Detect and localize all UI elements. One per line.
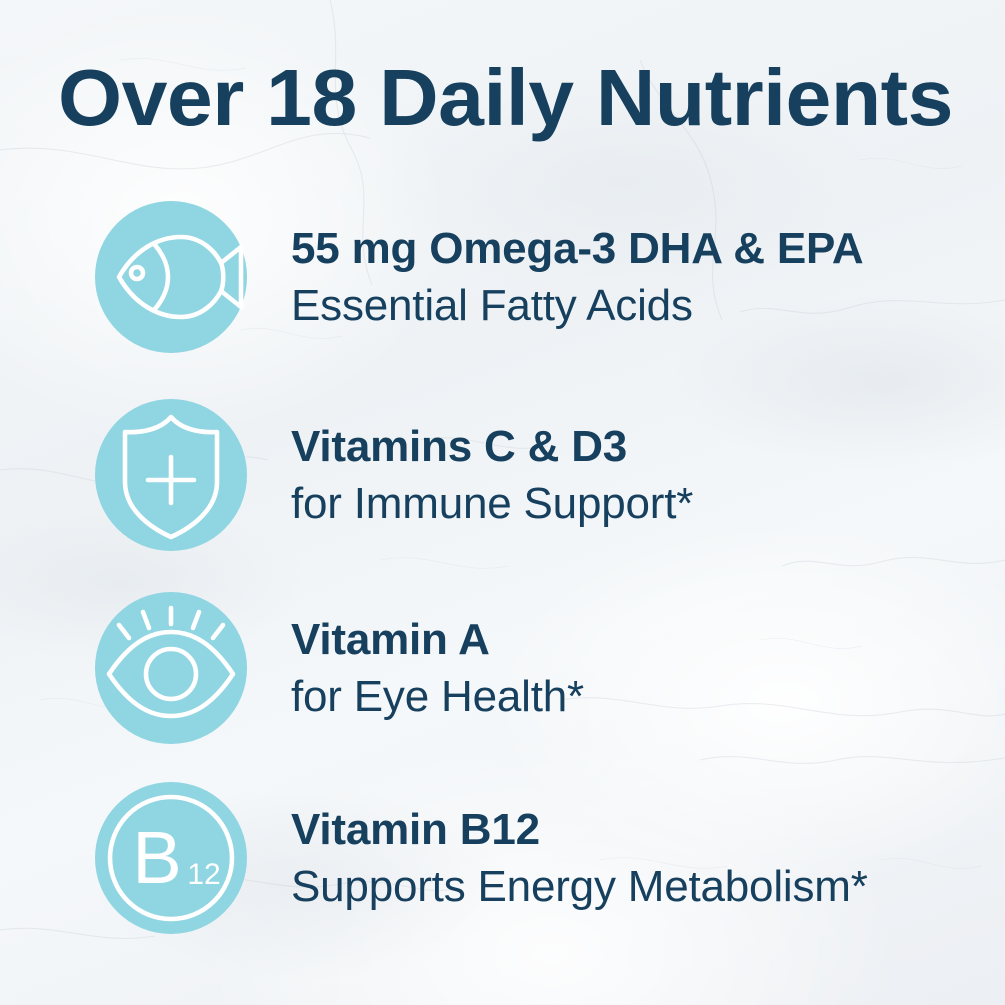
nutrient-list: 55 mg Omega-3 DHA & EPA Essential Fatty … — [0, 0, 1005, 1005]
nutrient-secondary-label: for Immune Support* — [291, 475, 693, 532]
nutrient-secondary-label: Supports Energy Metabolism* — [291, 858, 868, 915]
nutrient-secondary-label: for Eye Health* — [291, 668, 584, 725]
nutrient-row-omega3: 55 mg Omega-3 DHA & EPA Essential Fatty … — [0, 197, 1005, 357]
shield-plus-icon-badge — [95, 399, 247, 551]
b12-letter: B — [132, 816, 181, 899]
nutrient-primary-label: 55 mg Omega-3 DHA & EPA — [291, 220, 863, 277]
nutrient-secondary-label: Essential Fatty Acids — [291, 277, 863, 334]
shield-plus-icon — [95, 399, 247, 551]
b12-circle-icon-badge: B 12 — [95, 782, 247, 934]
nutrient-text-vitamin-a: Vitamin A for Eye Health* — [291, 611, 584, 725]
b12-subscript: 12 — [187, 858, 220, 891]
eye-icon — [95, 592, 247, 744]
nutrient-text-vitamins-c-d3: Vitamins C & D3 for Immune Support* — [291, 418, 693, 532]
nutrient-primary-label: Vitamin B12 — [291, 801, 868, 858]
b12-circle-icon: B 12 — [95, 782, 247, 934]
nutrient-primary-label: Vitamins C & D3 — [291, 418, 693, 475]
nutrient-text-vitamin-b12: Vitamin B12 Supports Energy Metabolism* — [291, 801, 868, 915]
nutrient-infographic: Over 18 Daily Nutrients — [0, 0, 1005, 1005]
fish-icon-badge — [95, 201, 247, 353]
nutrient-row-vitamin-b12: B 12 Vitamin B12 Supports Energy Metabol… — [0, 778, 1005, 938]
fish-icon — [95, 201, 247, 353]
nutrient-text-omega3: 55 mg Omega-3 DHA & EPA Essential Fatty … — [291, 220, 863, 334]
nutrient-row-vitamins-c-d3: Vitamins C & D3 for Immune Support* — [0, 395, 1005, 555]
nutrient-row-vitamin-a: Vitamin A for Eye Health* — [0, 588, 1005, 748]
eye-icon-badge — [95, 592, 247, 744]
nutrient-primary-label: Vitamin A — [291, 611, 584, 668]
